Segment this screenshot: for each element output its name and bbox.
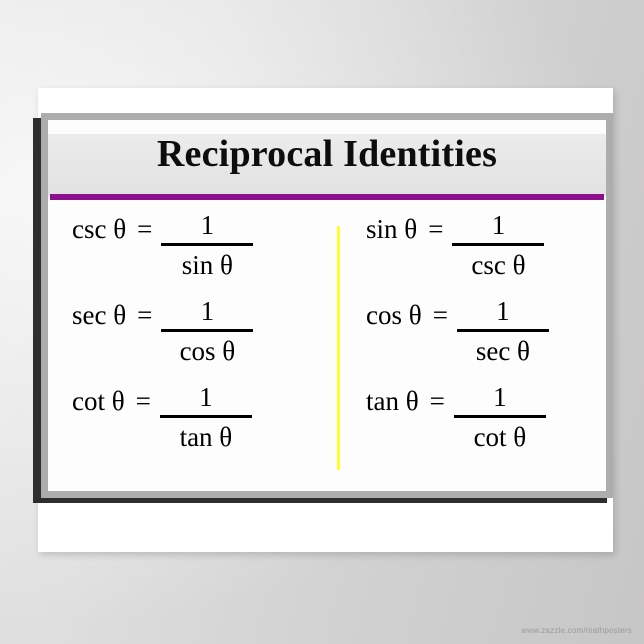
- watermark-url: www.zazzle.com/mathposters: [521, 626, 632, 635]
- fraction-bar: [457, 329, 549, 332]
- formula-equals: =: [433, 296, 448, 330]
- formula-tan: tan θ = 1 cot θ: [366, 382, 546, 454]
- formula-sec: sec θ = 1 cos θ: [72, 296, 253, 368]
- fraction-numerator: 1: [161, 296, 253, 328]
- column-divider-line: [337, 226, 340, 470]
- formula-cot: cot θ = 1 tan θ: [72, 382, 252, 454]
- formula-sin: sin θ = 1 csc θ: [366, 210, 544, 282]
- formula-lhs: csc θ: [72, 210, 126, 244]
- fraction-denominator: sec θ: [457, 335, 549, 368]
- formula-fraction: 1 sec θ: [457, 296, 549, 368]
- fraction-bar: [454, 415, 546, 418]
- formula-fraction: 1 csc θ: [452, 210, 544, 282]
- formula-column-right: sin θ = 1 csc θ cos θ = 1 sec θ: [348, 204, 606, 491]
- formula-equals: =: [137, 210, 152, 244]
- formula-equals: =: [430, 382, 445, 416]
- formula-equals: =: [137, 296, 152, 330]
- fraction-denominator: cot θ: [454, 421, 546, 454]
- formula-equals: =: [428, 210, 443, 244]
- formula-fraction: 1 sin θ: [161, 210, 253, 282]
- formula-lhs: sin θ: [366, 210, 417, 244]
- formula-column-left: csc θ = 1 sin θ sec θ = 1 cos θ: [58, 204, 333, 491]
- fraction-numerator: 1: [457, 296, 549, 328]
- formula-fraction: 1 cot θ: [454, 382, 546, 454]
- formula-cos: cos θ = 1 sec θ: [366, 296, 549, 368]
- fraction-denominator: sin θ: [161, 249, 253, 282]
- formula-lhs: tan θ: [366, 382, 419, 416]
- fraction-numerator: 1: [161, 210, 253, 242]
- fraction-bar: [160, 415, 252, 418]
- poster-artwork: Reciprocal Identities csc θ = 1 sin θ se…: [48, 120, 606, 491]
- formula-lhs: cot θ: [72, 382, 125, 416]
- fraction-denominator: csc θ: [452, 249, 544, 282]
- page-title: Reciprocal Identities: [48, 132, 606, 176]
- fraction-bar: [161, 329, 253, 332]
- fraction-denominator: tan θ: [160, 421, 252, 454]
- title-underline-rule: [50, 194, 604, 200]
- formula-area: csc θ = 1 sin θ sec θ = 1 cos θ: [48, 204, 606, 491]
- fraction-bar: [452, 243, 544, 246]
- fraction-numerator: 1: [452, 210, 544, 242]
- formula-fraction: 1 tan θ: [160, 382, 252, 454]
- fraction-bar: [161, 243, 253, 246]
- formula-lhs: sec θ: [72, 296, 126, 330]
- fraction-denominator: cos θ: [161, 335, 253, 368]
- fraction-numerator: 1: [160, 382, 252, 414]
- formula-equals: =: [136, 382, 151, 416]
- formula-lhs: cos θ: [366, 296, 422, 330]
- artwork-frame-border: Reciprocal Identities csc θ = 1 sin θ se…: [41, 113, 613, 498]
- formula-csc: csc θ = 1 sin θ: [72, 210, 253, 282]
- fraction-numerator: 1: [454, 382, 546, 414]
- formula-fraction: 1 cos θ: [161, 296, 253, 368]
